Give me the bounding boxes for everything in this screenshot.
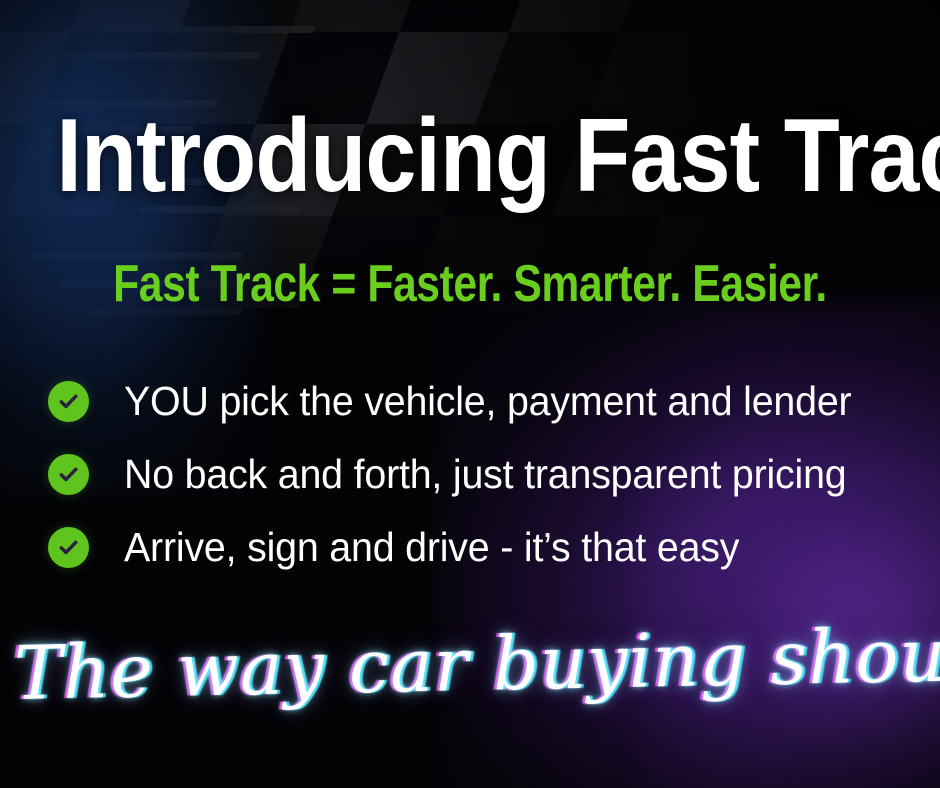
- check-circle-icon: [48, 381, 89, 422]
- subtitle: Fast Track = Faster. Smarter. Easier.: [85, 258, 856, 310]
- check-circle-icon: [48, 454, 89, 495]
- list-item-label: YOU pick the vehicle, payment and lender: [124, 381, 851, 422]
- tagline: The way car buying should be. The way ca…: [0, 612, 940, 722]
- fast-track-promo-graphic: Introducing Fast Track Fast Track = Fast…: [0, 0, 940, 788]
- check-circle-icon: [48, 527, 89, 568]
- benefit-list: YOU pick the vehicle, payment and lender…: [48, 375, 908, 594]
- list-item-label: No back and forth, just transparent pric…: [124, 454, 846, 495]
- page-title: Introducing Fast Track: [56, 104, 883, 208]
- list-item: YOU pick the vehicle, payment and lender: [48, 375, 908, 427]
- list-item-label: Arrive, sign and drive - it’s that easy: [124, 527, 739, 568]
- list-item: Arrive, sign and drive - it’s that easy: [48, 521, 908, 573]
- tagline-text: The way car buying should be.: [13, 603, 927, 727]
- list-item: No back and forth, just transparent pric…: [48, 448, 908, 500]
